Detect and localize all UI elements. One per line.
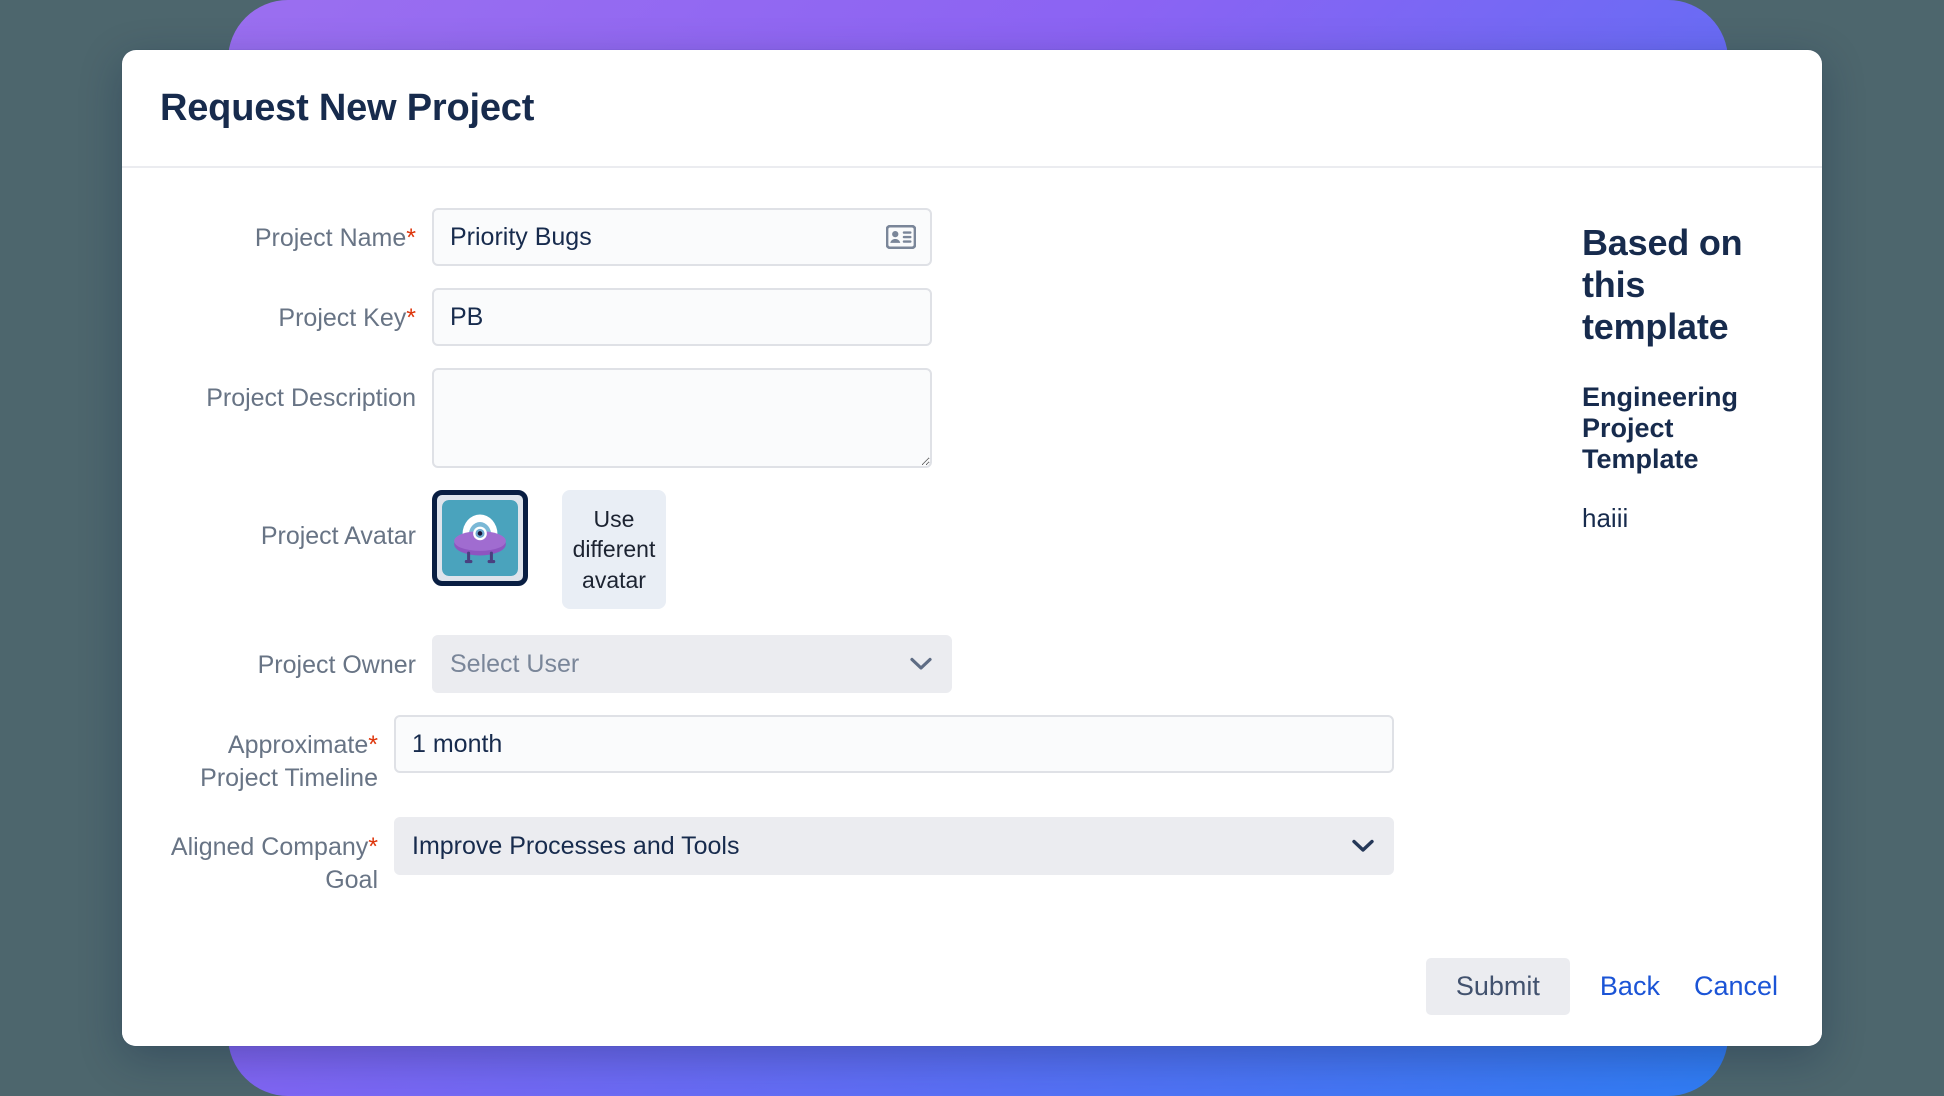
avatar-controls: Use different avatar	[432, 490, 666, 609]
aligned-company-goal-control: Improve Processes and Tools	[394, 817, 1394, 875]
project-owner-control: Select User	[432, 635, 952, 693]
goal-required-mark: *	[368, 833, 378, 861]
form-row-aligned-company-goal: Aligned Company* Goal Improve Processes …	[132, 817, 1582, 897]
timeline-label-line1: Approximate	[228, 731, 368, 759]
project-name-required-mark: *	[406, 224, 416, 252]
approximate-project-timeline-label: Approximate* Project Timeline	[132, 715, 394, 795]
template-description: haiii	[1582, 503, 1782, 534]
aligned-company-goal-select[interactable]: Improve Processes and Tools	[394, 817, 1394, 875]
request-new-project-dialog: Request New Project Project Name*	[122, 50, 1822, 1046]
template-name: Engineering Project Template	[1582, 382, 1782, 475]
project-avatar-label: Project Avatar	[132, 490, 432, 553]
back-button[interactable]: Back	[1596, 965, 1664, 1008]
project-description-control	[432, 368, 932, 468]
project-avatar-selected-button[interactable]	[432, 490, 528, 586]
template-info-panel: Based on this template Engineering Proje…	[1582, 208, 1822, 926]
timeline-required-mark: *	[368, 731, 378, 759]
project-name-label-text: Project Name	[255, 224, 406, 252]
project-key-required-mark: *	[406, 304, 416, 332]
goal-label-line1: Aligned Company	[171, 833, 368, 861]
cancel-button[interactable]: Cancel	[1690, 965, 1782, 1008]
project-form: Project Name*	[122, 208, 1582, 926]
aligned-company-goal-select-box: Improve Processes and Tools	[394, 817, 1394, 875]
project-key-input[interactable]	[432, 288, 932, 346]
aligned-company-goal-label: Aligned Company* Goal	[132, 817, 394, 897]
form-row-project-key: Project Key*	[132, 288, 1582, 346]
project-key-label-text: Project Key	[278, 304, 406, 332]
project-key-label: Project Key*	[132, 288, 432, 335]
goal-label-line2: Goal	[325, 866, 378, 894]
dialog-body: Project Name*	[122, 168, 1822, 926]
use-different-avatar-button[interactable]: Use different avatar	[562, 490, 666, 609]
project-owner-select-box: Select User	[432, 635, 952, 693]
project-name-label: Project Name*	[132, 208, 432, 255]
project-avatar-label-text: Project Avatar	[261, 522, 416, 550]
timeline-label-line2: Project Timeline	[200, 764, 378, 792]
dialog-header: Request New Project	[122, 50, 1822, 168]
project-description-label: Project Description	[132, 368, 432, 415]
form-row-approximate-project-timeline: Approximate* Project Timeline	[132, 715, 1582, 795]
template-panel-heading: Based on this template	[1582, 222, 1782, 348]
form-row-project-name: Project Name*	[132, 208, 1582, 266]
project-avatar-control: Use different avatar	[432, 490, 666, 609]
approximate-project-timeline-input[interactable]	[394, 715, 1394, 773]
project-name-control	[432, 208, 932, 266]
project-key-control	[432, 288, 932, 346]
project-owner-label-text: Project Owner	[258, 651, 416, 679]
project-owner-label: Project Owner	[132, 635, 432, 682]
form-row-project-avatar: Project Avatar	[132, 490, 1582, 609]
project-description-input[interactable]	[432, 368, 932, 468]
dialog-footer: Submit Back Cancel	[122, 926, 1822, 1046]
approximate-project-timeline-control	[394, 715, 1394, 773]
ufo-avatar-icon	[442, 500, 518, 576]
submit-button[interactable]: Submit	[1426, 958, 1570, 1015]
project-owner-select[interactable]: Select User	[432, 635, 952, 693]
form-row-project-owner: Project Owner Select User	[132, 635, 1582, 693]
project-description-label-text: Project Description	[206, 384, 416, 412]
page-title: Request New Project	[160, 87, 534, 130]
project-name-input[interactable]	[432, 208, 932, 266]
project-name-input-wrap	[432, 208, 932, 266]
form-row-project-description: Project Description	[132, 368, 1582, 468]
